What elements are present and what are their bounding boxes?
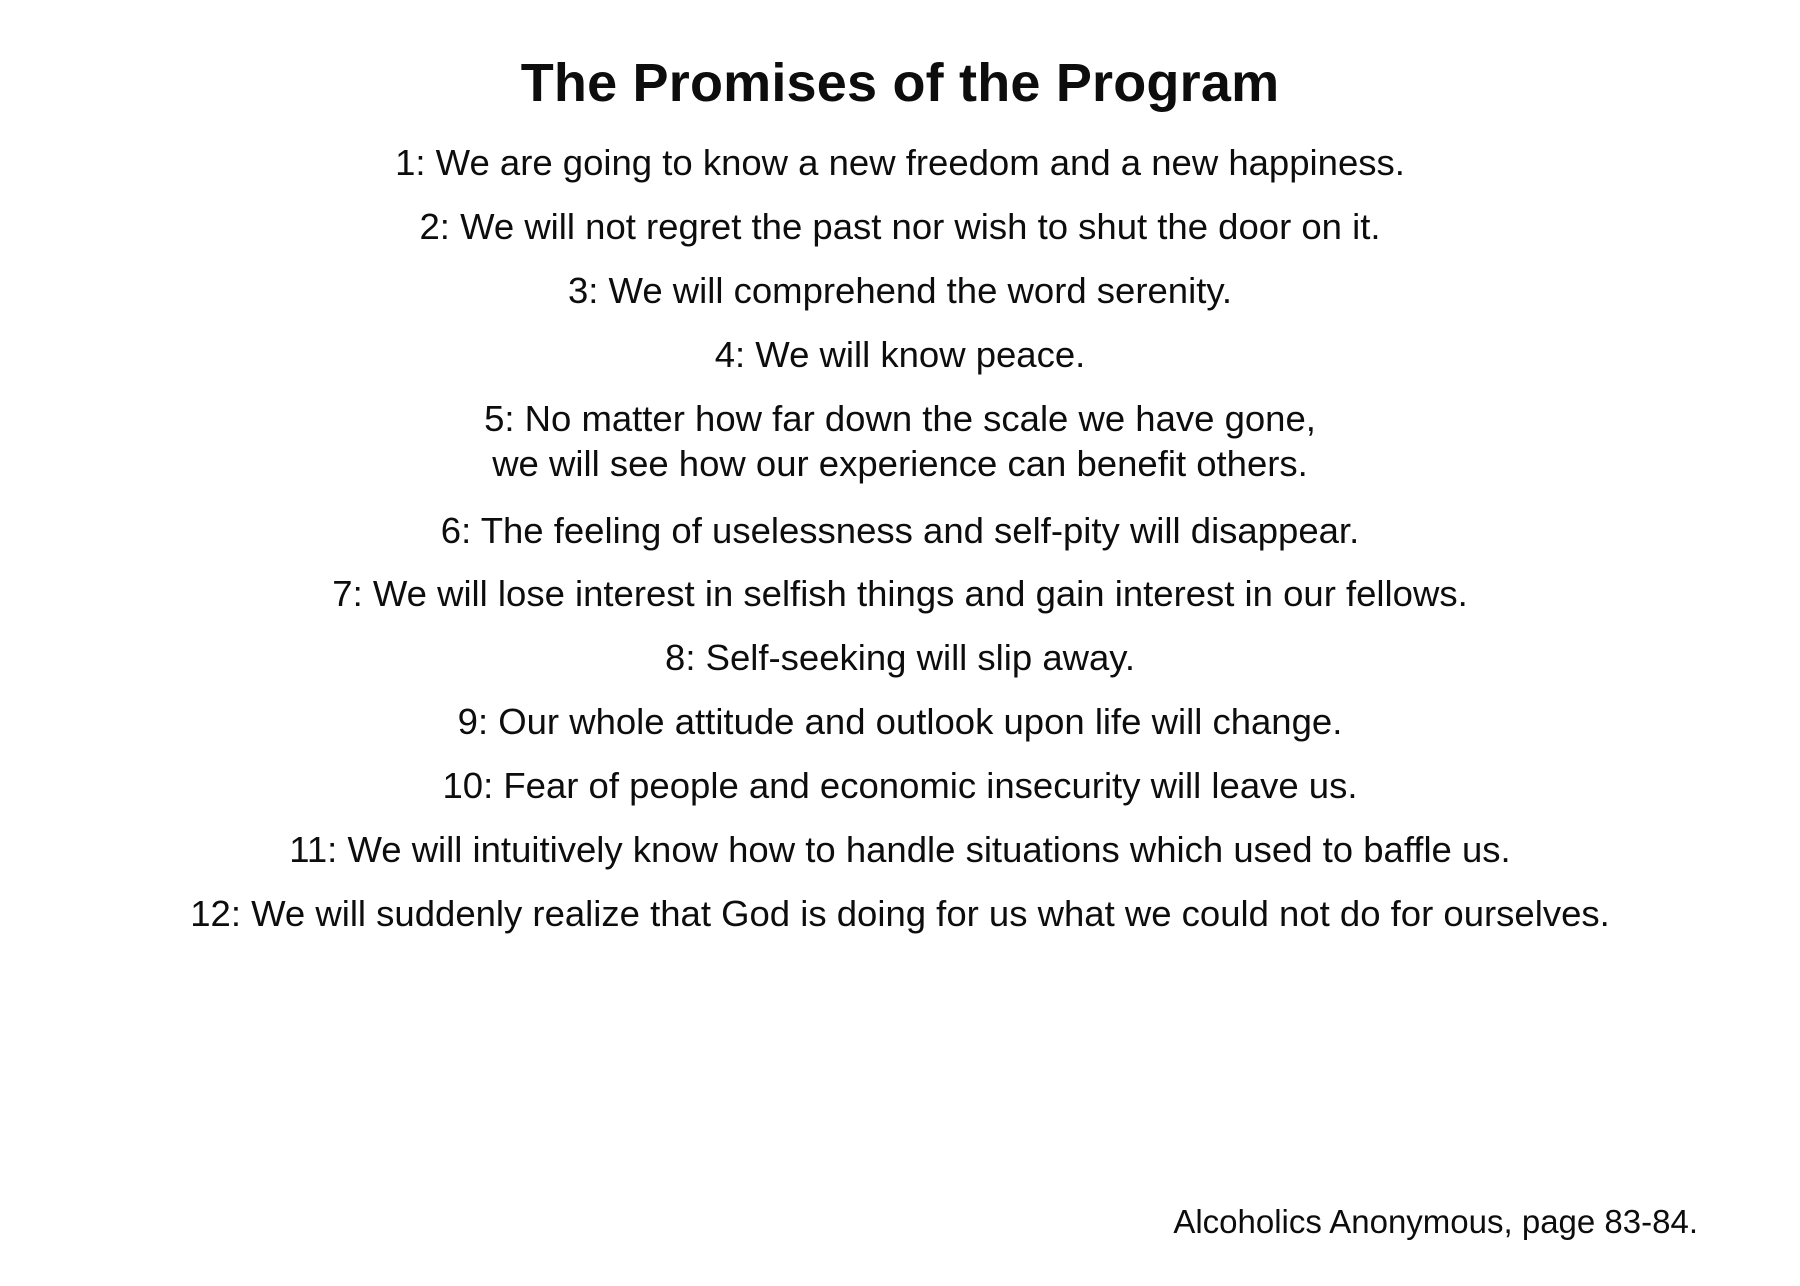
promise-text: 1: We are going to know a new freedom an… <box>395 142 1405 183</box>
list-item: 10: Fear of people and economic insecuri… <box>40 755 1760 819</box>
list-item: 8: Self-seeking will slip away. <box>40 627 1760 691</box>
promise-text: 6: The feeling of uselessness and self-p… <box>441 510 1359 551</box>
list-item: 11: We will intuitively know how to hand… <box>40 819 1760 883</box>
promise-text: 4: We will know peace. <box>715 334 1086 375</box>
promise-text: 11: We will intuitively know how to hand… <box>289 829 1510 870</box>
slide-canvas: The Promises of the Program 1: We are go… <box>0 0 1800 1286</box>
promise-text: 5: No matter how far down the scale we h… <box>484 398 1316 439</box>
promise-list: 1: We are going to know a new freedom an… <box>40 132 1760 947</box>
promise-text: 8: Self-seeking will slip away. <box>665 637 1135 678</box>
list-item: 2: We will not regret the past nor wish … <box>40 196 1760 260</box>
list-item: 12: We will suddenly realize that God is… <box>40 882 1760 946</box>
promise-text: 9: Our whole attitude and outlook upon l… <box>458 701 1343 742</box>
promise-text: 12: We will suddenly realize that God is… <box>190 893 1610 934</box>
promise-text: 7: We will lose interest in selfish thin… <box>332 573 1467 614</box>
list-item: 1: We are going to know a new freedom an… <box>40 132 1760 196</box>
source-attribution: Alcoholics Anonymous, page 83-84. <box>40 1202 1760 1286</box>
promise-text: 3: We will comprehend the word serenity. <box>568 270 1232 311</box>
promise-text-continuation: we will see how our experience can benef… <box>150 442 1650 487</box>
promise-text: 2: We will not regret the past nor wish … <box>420 206 1381 247</box>
list-item: 4: We will know peace. <box>40 323 1760 387</box>
list-item: 3: We will comprehend the word serenity. <box>40 260 1760 324</box>
promise-text: 10: Fear of people and economic insecuri… <box>442 765 1357 806</box>
list-item: 5: No matter how far down the scale we h… <box>40 387 1760 499</box>
page-title: The Promises of the Program <box>40 52 1760 116</box>
list-item: 6: The feeling of uselessness and self-p… <box>40 499 1760 563</box>
list-item: 7: We will lose interest in selfish thin… <box>40 563 1760 627</box>
list-item: 9: Our whole attitude and outlook upon l… <box>40 691 1760 755</box>
